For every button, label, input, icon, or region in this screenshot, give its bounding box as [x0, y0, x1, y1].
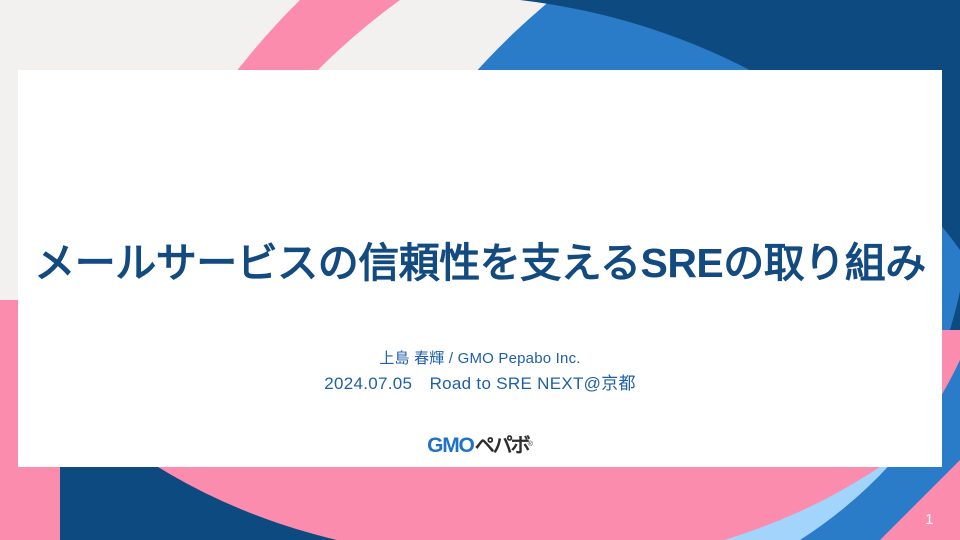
- logo-trademark-icon: ®: [528, 441, 533, 448]
- event-line: 2024.07.05 Road to SRE NEXT@京都: [0, 372, 960, 396]
- slide-title: メールサービスの信頼性を支えるSREの取り組み: [0, 240, 960, 287]
- gmo-pepabo-logo: GMOペパボ®: [0, 429, 960, 458]
- logo-gmo-text: GMO: [427, 434, 474, 457]
- presenter-line: 上島 春輝 / GMO Pepabo Inc.: [0, 349, 960, 369]
- page-number: 1: [925, 511, 934, 528]
- slide-subtitle-block: 上島 春輝 / GMO Pepabo Inc. 2024.07.05 Road …: [0, 349, 960, 396]
- slide-canvas: メールサービスの信頼性を支えるSREの取り組み 上島 春輝 / GMO Pepa…: [0, 0, 960, 540]
- logo-pepabo-text: ペパボ: [475, 435, 529, 457]
